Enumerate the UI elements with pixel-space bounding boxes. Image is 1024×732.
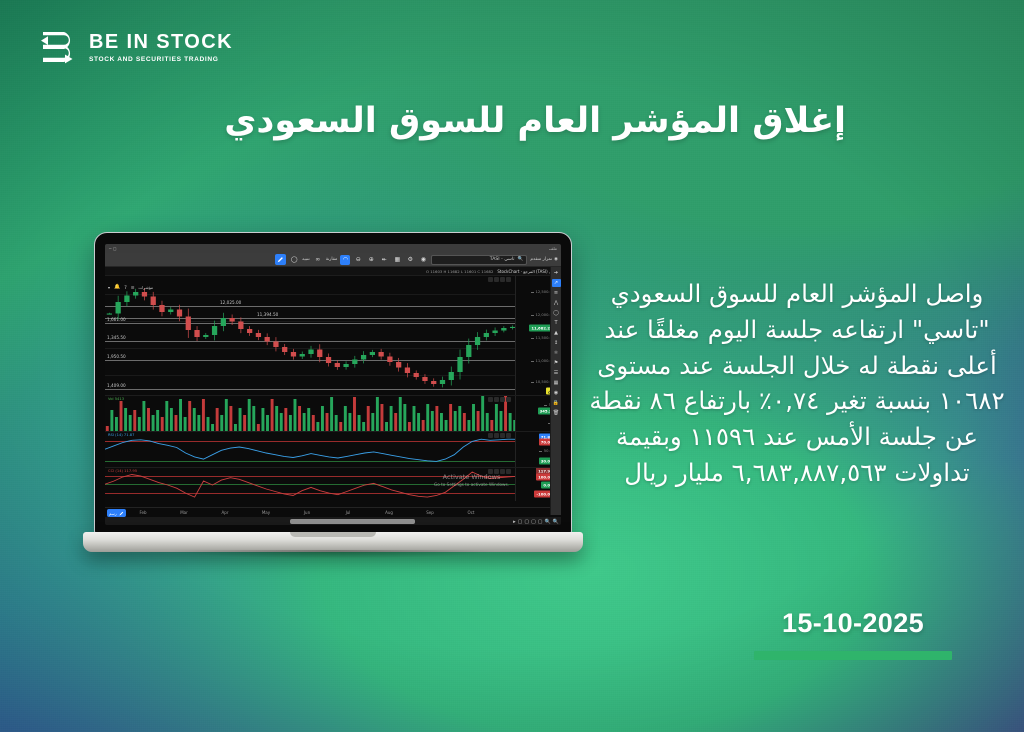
measure-icon[interactable]: ↕: [552, 339, 561, 347]
scrollbar-thumb[interactable]: [290, 519, 415, 524]
undo-icon[interactable]: ↞: [379, 255, 389, 265]
alert-count: 7: [124, 285, 127, 290]
timeframe-label[interactable]: تنبيه: [302, 257, 310, 262]
titlebar-menu-label[interactable]: ملف: [549, 246, 557, 251]
shapes-icon[interactable]: ◯: [552, 309, 561, 317]
log-scale-icon[interactable]: ▢: [524, 519, 529, 525]
brand-name: BE IN STOCK: [89, 32, 233, 52]
horizontal-scrollbar[interactable]: ▸ ▢ ▢ ▢ ▢ 🔍 🔍: [105, 517, 561, 525]
cci-pane[interactable]: CCI (14) 117.95 117.9535 100.0000 0.0000…: [105, 467, 561, 501]
cci-series: [105, 468, 517, 501]
chart-area[interactable]: 12,025.00 11,394.50 1,661.00 1,345.50 1,…: [105, 275, 561, 507]
search-input[interactable]: TASI - تاسي 🔍: [431, 255, 527, 265]
time-axis-label: Feb: [139, 510, 146, 515]
page-title: إغلاق المؤشر العام للسوق السعودي: [224, 101, 846, 141]
publish-date: 15-10-2025: [754, 608, 952, 639]
window-controls[interactable]: ─ ◻: [109, 246, 116, 251]
volume-header: Vol 5413: [108, 397, 124, 401]
zoom-out-axis-icon[interactable]: 🔍: [545, 519, 551, 525]
rsi-header: RSI (14) 71.87: [108, 433, 134, 437]
legend-indicator-label[interactable]: مؤشرات: [138, 285, 153, 290]
date-underline: [754, 651, 952, 660]
filter-icon[interactable]: ☰: [131, 285, 135, 290]
pitchfork-icon[interactable]: ⋀: [552, 299, 561, 307]
article-body: واصل المؤشر العام للسوق السعودي "تاسي" ا…: [588, 276, 1006, 491]
fib-icon[interactable]: ≡: [552, 289, 561, 297]
brand-logo: BE IN STOCK STOCK AND SECURITIES TRADING: [34, 24, 233, 70]
time-axis-label: Oct: [468, 510, 475, 515]
chart-list-icon[interactable]: ▦: [552, 379, 561, 387]
brand-text: BE IN STOCK STOCK AND SECURITIES TRADING: [89, 32, 233, 63]
cursor-icon[interactable]: ➔: [552, 269, 561, 277]
date-block: 15-10-2025: [754, 608, 952, 660]
draw-button-label: رسم: [109, 511, 117, 516]
pane-controls-rsi[interactable]: [488, 433, 511, 438]
search-value: TASI - تاسي: [490, 257, 515, 262]
time-axis-label: Jun: [304, 510, 310, 515]
laptop-shadow: [105, 550, 561, 562]
app-titlebar: ─ ◻ ملف: [105, 244, 561, 253]
time-axis[interactable]: رسم FebMarAprMayJunJulAugSepOct: [105, 507, 561, 517]
laptop-screen: ─ ◻ ملف ◯ تنبيه ∞ مقارنة ◠ ⊖ ⊕ ↞ ▦ ⚙ ◉: [105, 244, 561, 525]
zoom-in-axis-icon[interactable]: 🔍: [553, 519, 559, 525]
laptop-mockup: ─ ◻ ملف ◯ تنبيه ∞ مقارنة ◠ ⊖ ⊕ ↞ ▦ ⚙ ◉: [83, 232, 583, 592]
pane-controls-volume[interactable]: [488, 397, 511, 402]
time-axis-label: Mar: [180, 510, 188, 515]
brand-tagline: STOCK AND SECURITIES TRADING: [89, 56, 233, 63]
pattern-icon[interactable]: ▲: [552, 329, 561, 337]
app-toolbar: ◯ تنبيه ∞ مقارنة ◠ ⊖ ⊕ ↞ ▦ ⚙ ◉ TASI - تا…: [105, 253, 561, 267]
pane-controls-price[interactable]: [488, 277, 511, 282]
volume-series: [105, 396, 517, 431]
rsi-series: [105, 432, 517, 467]
compare-label[interactable]: مقارنة: [326, 257, 338, 262]
zoom-in-icon[interactable]: ⊕: [366, 255, 376, 265]
laptop-lid: ─ ◻ ملف ◯ تنبيه ∞ مقارنة ◠ ⊖ ⊕ ↞ ▦ ⚙ ◉: [94, 232, 572, 535]
candlestick-icon[interactable]: ◠: [340, 255, 350, 265]
cci-header: CCI (14) 117.95: [108, 469, 137, 473]
layers-icon[interactable]: ◉: [418, 255, 428, 265]
layout-label: تمرار متقدم: [530, 257, 552, 262]
drawing-toolbar[interactable]: ➔ ↗ ≡ ⋀ ◯ T ▲ ↕ ⚛ ⚑ ☰ ▦ ◉ 🔒 🗑: [550, 267, 561, 515]
magnet-icon[interactable]: ⚛: [552, 349, 561, 357]
candlestick-series: [105, 276, 517, 395]
rsi-pane[interactable]: RSI (14) 71.87 50.0000 71.8674 70.0000 3…: [105, 431, 561, 467]
layout-button[interactable]: تمرار متقدم ◉: [530, 257, 558, 262]
chart-legend-secondary: مؤشرات ☰ 7 🔔 ▾: [108, 284, 153, 290]
reset-scale-icon[interactable]: ▢: [518, 519, 523, 525]
auto-scale-icon[interactable]: ▢: [531, 519, 536, 525]
text-icon[interactable]: T: [552, 319, 561, 327]
legend-ohlc: O 11603 H 11682 L 11601 C 11682: [426, 269, 493, 274]
price-pane[interactable]: 12,025.00 11,394.50 1,661.00 1,345.50 1,…: [105, 275, 561, 395]
zoom-out-icon[interactable]: ⊖: [353, 255, 363, 265]
laptop-base: [83, 532, 583, 552]
time-axis-label: Sep: [426, 510, 434, 515]
flag-icon[interactable]: ⚑: [552, 359, 561, 367]
search-icon[interactable]: 🔍: [518, 257, 524, 262]
bell-icon[interactable]: 🔔: [114, 284, 120, 290]
trash-icon[interactable]: 🗑: [552, 409, 561, 417]
pen-tool-icon[interactable]: [275, 254, 286, 265]
layout-icon: ◉: [554, 257, 558, 262]
lock-icon[interactable]: 🔒: [552, 399, 561, 407]
time-axis-label: May: [262, 510, 270, 515]
settings-icon[interactable]: ⚙: [405, 255, 415, 265]
fit-icon[interactable]: ▢: [538, 519, 543, 525]
time-axis-label: Aug: [385, 510, 393, 515]
scroll-right-icon[interactable]: ▸: [513, 519, 516, 525]
compare-icon[interactable]: ∞: [313, 255, 323, 265]
be-in-stock-logo-icon: [34, 24, 80, 70]
indicators-icon[interactable]: ▦: [392, 255, 402, 265]
timeframe-icon[interactable]: ◯: [289, 255, 299, 265]
chart-legend: تاسي (TASI) المرجع · StockChart O 11603 …: [105, 267, 561, 275]
laptop-base-notch: [290, 532, 376, 537]
eye-icon[interactable]: ◉: [552, 389, 561, 397]
pane-controls-cci[interactable]: [488, 469, 511, 474]
legend-symbol: تاسي (TASI) المرجع · StockChart: [497, 269, 558, 274]
ruler-icon[interactable]: ☰: [552, 369, 561, 377]
trendline-icon[interactable]: ↗: [552, 279, 561, 287]
draw-button[interactable]: رسم: [107, 509, 126, 517]
volume-pane[interactable]: Vol 5413 500M 0M 345.32M: [105, 395, 561, 431]
time-axis-label: Apr: [222, 510, 229, 515]
pencil-icon: [119, 511, 124, 516]
legend-drop-icon[interactable]: ▾: [108, 285, 110, 290]
time-axis-label: Jul: [346, 510, 351, 515]
